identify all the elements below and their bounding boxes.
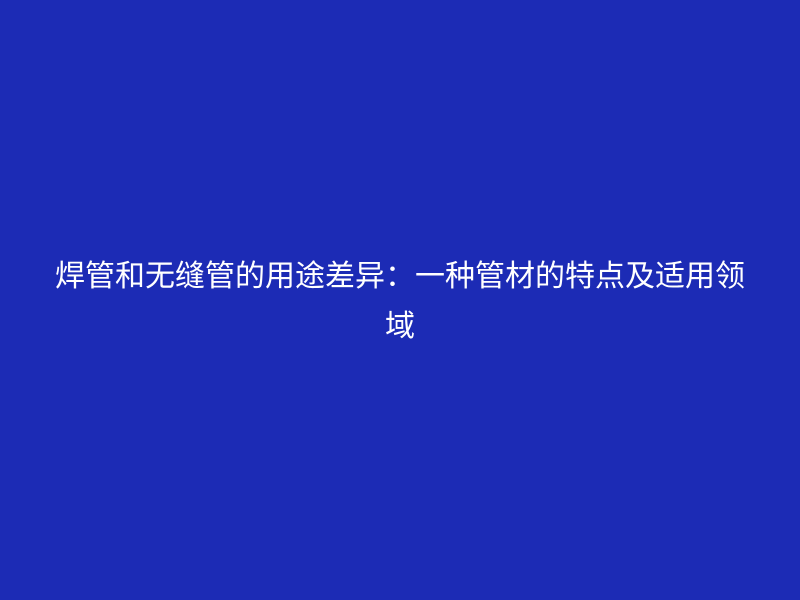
page-title: 焊管和无缝管的用途差异：一种管材的特点及适用领域	[50, 252, 750, 352]
title-block: 焊管和无缝管的用途差异：一种管材的特点及适用领域	[50, 252, 750, 352]
article-title-card: 焊管和无缝管的用途差异：一种管材的特点及适用领域	[0, 0, 800, 600]
